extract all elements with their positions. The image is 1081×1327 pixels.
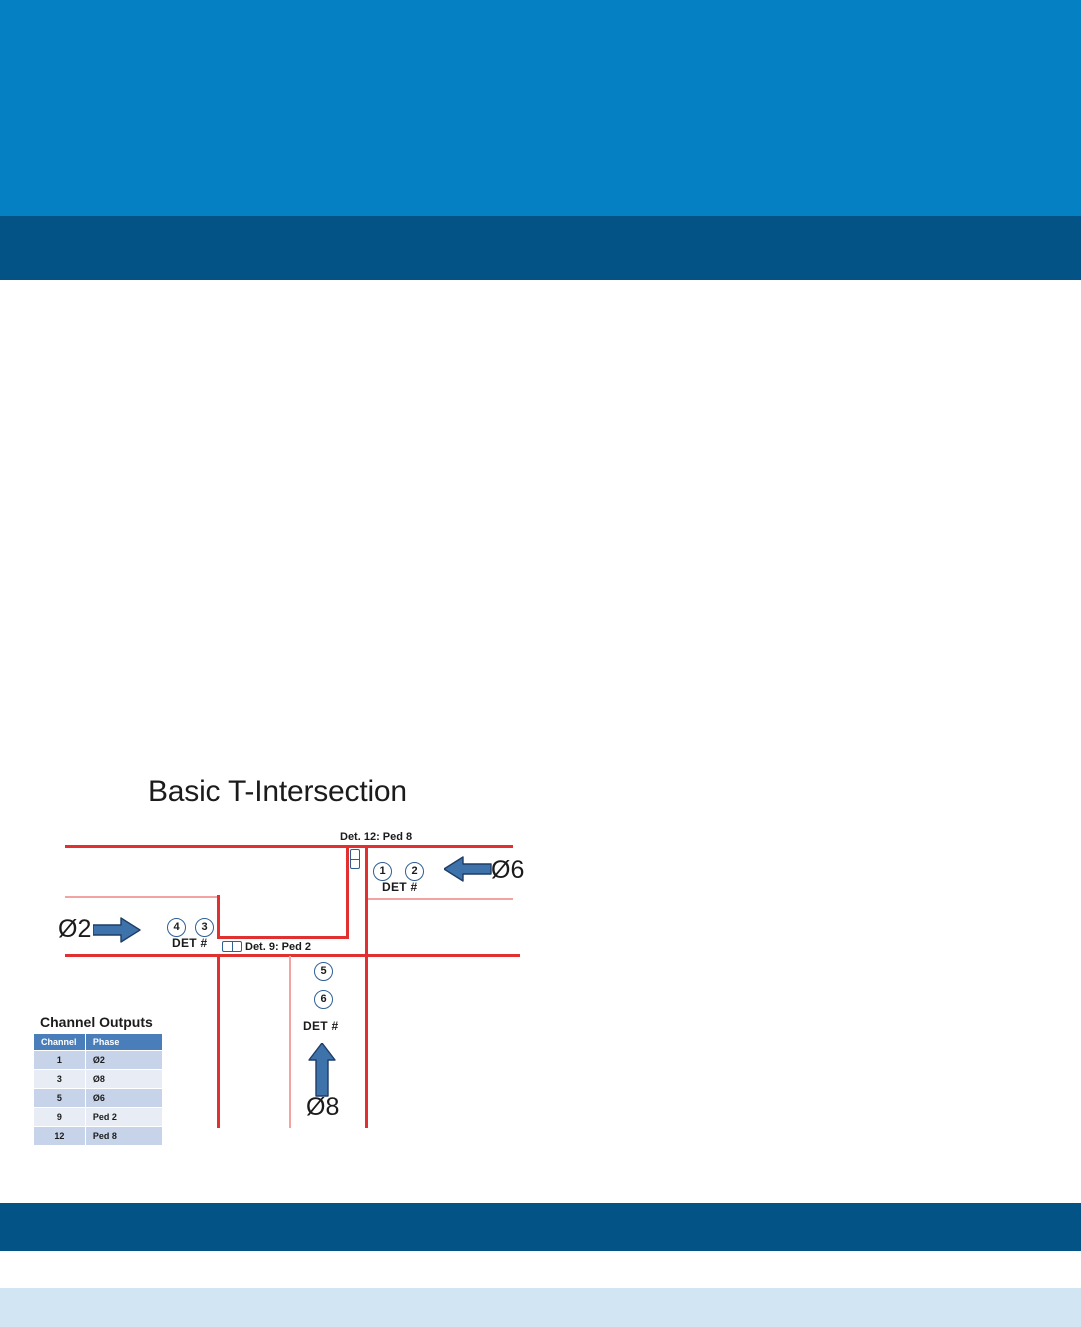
phase-6-arrow-icon: [444, 855, 492, 883]
road-south-centerline: [289, 956, 291, 1128]
road-median-left-edge: [217, 895, 220, 939]
table-row: 9 Ped 2: [34, 1108, 163, 1127]
table-row: 12 Ped 8: [34, 1127, 163, 1146]
phase-2-label: Ø2: [58, 915, 91, 944]
detector-circle-1[interactable]: 1: [373, 862, 392, 881]
figure-title: Basic T-Intersection: [148, 775, 407, 809]
table-header-row: Channel Phase: [34, 1034, 163, 1051]
table-row: 5 Ø6: [34, 1089, 163, 1108]
road-south-left-curb: [217, 954, 220, 1128]
cell-channel: 5: [34, 1089, 86, 1108]
detector-label-west: DET #: [172, 936, 208, 950]
road-south-right-curb: [365, 845, 368, 1128]
cell-channel: 9: [34, 1108, 86, 1127]
detector-label-south: DET #: [303, 1019, 339, 1033]
detector-circle-5[interactable]: 5: [314, 962, 333, 981]
detector-circle-6[interactable]: 6: [314, 990, 333, 1009]
cell-channel: 1: [34, 1051, 86, 1070]
cell-phase: Ped 2: [85, 1108, 162, 1127]
table-row: 1 Ø2: [34, 1051, 163, 1070]
road-bottom-curb: [65, 954, 520, 957]
table-row: 3 Ø8: [34, 1070, 163, 1089]
cell-phase: Ø8: [85, 1070, 162, 1089]
ped-detector-12-label: Det. 12: Ped 8: [340, 831, 412, 843]
road-median-right-edge: [346, 845, 349, 938]
cell-phase: Ped 8: [85, 1127, 162, 1146]
phase-2-arrow-icon: [93, 916, 141, 944]
cell-phase: Ø2: [85, 1051, 162, 1070]
ped-detector-9-icon[interactable]: [222, 941, 242, 952]
column-header-channel: Channel: [34, 1034, 86, 1051]
ped-detector-12-icon[interactable]: [350, 849, 360, 869]
phase-8-label: Ø8: [306, 1093, 339, 1122]
t-intersection-figure: Basic T-Intersection Det. 12: Ped 8 Det.…: [0, 0, 1081, 1327]
road-median-bottom-edge: [217, 936, 349, 939]
channel-outputs-table: Channel Phase 1 Ø2 3 Ø8 5 Ø6 9 Ped 2 12: [33, 1033, 163, 1146]
phase-8-arrow-icon: [307, 1043, 337, 1097]
cell-channel: 3: [34, 1070, 86, 1089]
road-east-lane-divider: [368, 898, 513, 900]
detector-label-north: DET #: [382, 880, 418, 894]
cell-channel: 12: [34, 1127, 86, 1146]
detector-circle-3[interactable]: 3: [195, 918, 214, 937]
road-west-lane-divider: [65, 896, 218, 898]
phase-6-label: Ø6: [491, 856, 524, 885]
detector-circle-2[interactable]: 2: [405, 862, 424, 881]
ped-detector-9-label: Det. 9: Ped 2: [245, 941, 311, 953]
column-header-phase: Phase: [85, 1034, 162, 1051]
cell-phase: Ø6: [85, 1089, 162, 1108]
detector-circle-4[interactable]: 4: [167, 918, 186, 937]
road-top-curb: [65, 845, 513, 848]
channel-outputs-title: Channel Outputs: [40, 1014, 153, 1030]
